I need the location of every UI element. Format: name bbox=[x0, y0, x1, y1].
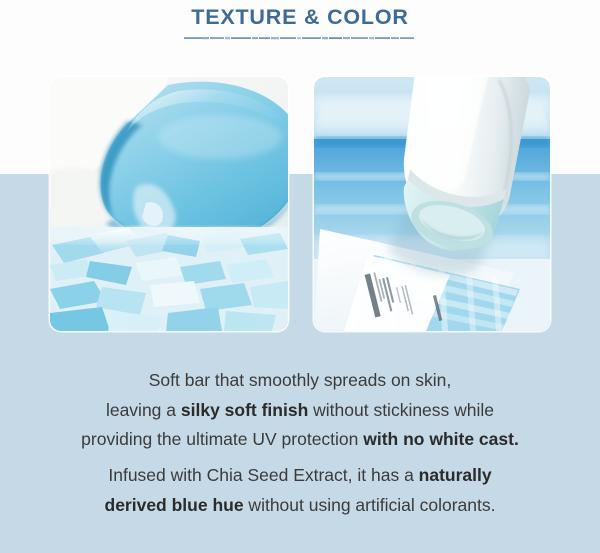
image-gallery bbox=[0, 77, 600, 331]
paragraph-line: Infused with Chia Seed Extract, it has a… bbox=[0, 461, 600, 491]
product-photo-right[interactable] bbox=[314, 77, 550, 331]
description-paragraph-2: Infused with Chia Seed Extract, it has a… bbox=[0, 461, 600, 520]
section-header: TEXTURE & COLOR bbox=[0, 5, 600, 41]
description-paragraph-1: Soft bar that smoothly spreads on skin, … bbox=[0, 366, 600, 455]
page-title: TEXTURE & COLOR bbox=[0, 5, 600, 29]
paragraph-line: derived blue hue without using artificia… bbox=[0, 491, 600, 521]
paragraph-line: Soft bar that smoothly spreads on skin, bbox=[0, 366, 600, 396]
paragraph-line: leaving a silky soft finish without stic… bbox=[0, 396, 600, 426]
paragraph-line: providing the ultimate UV protection wit… bbox=[0, 425, 600, 455]
texture-photo-left[interactable] bbox=[50, 77, 288, 331]
brushstroke-divider-icon bbox=[184, 35, 416, 41]
